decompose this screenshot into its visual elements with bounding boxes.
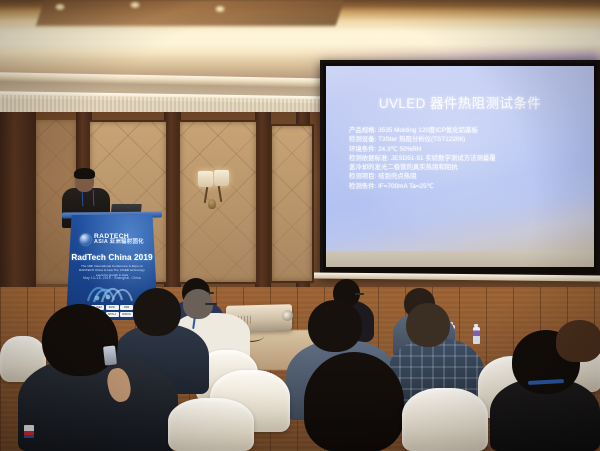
- audience-member-head: [308, 300, 362, 352]
- ceiling-spotlight: [215, 6, 225, 12]
- presenter-hair: [74, 168, 95, 179]
- audience-member-head: [304, 352, 404, 451]
- wall-stile: [164, 112, 181, 287]
- chair[interactable]: [168, 398, 254, 451]
- audience-member-head: [556, 320, 600, 362]
- swoosh-graphic: [86, 281, 142, 305]
- event-date: May 13–15, 2019 · Shanghai, China: [66, 276, 158, 280]
- fabric-wall-panel: [272, 126, 312, 281]
- sponsor-logo: MIWON: [120, 312, 133, 317]
- presenter-lanyard: [82, 190, 95, 206]
- logo-line-2: ASIA 亚洲辐射固化: [94, 240, 144, 245]
- ceiling-recess-panel: [36, 0, 344, 26]
- water-bottle[interactable]: [473, 327, 480, 344]
- radtech-logo: RADTECH ASIA 亚洲辐射固化: [80, 232, 146, 247]
- sunglasses: [205, 303, 217, 305]
- slide-body: 产品规格: 3535 Molding 120度ICP氮化铝基板 检测设备: T3…: [349, 126, 580, 191]
- ceiling-spotlight: [55, 4, 65, 10]
- event-title: RadTech China 2019: [66, 253, 158, 262]
- slide-line: 产品规格: 3535 Molding 120度ICP氮化铝基板: [349, 126, 580, 135]
- sponsor-logo: DSM: [120, 305, 133, 310]
- audience-member-head: [406, 303, 450, 347]
- slide-line: 检测条件: IF=700mA Ta=25℃: [349, 182, 580, 191]
- slide-line: 盖冷却的发光二极管的真实热阻和阻抗: [349, 163, 580, 172]
- bottle-cap: [474, 324, 478, 327]
- slide-title: UVLED 器件热阻测试条件: [326, 92, 594, 112]
- eyeglasses: [355, 293, 364, 295]
- globe-icon: [80, 234, 91, 245]
- sconce-shade-right: [214, 170, 229, 186]
- projection-screen[interactable]: UVLED 器件热阻测试条件 产品规格: 3535 Molding 120度IC…: [320, 60, 600, 276]
- slide-line: 环境条件: 24.3℃ 50%RH: [349, 145, 580, 154]
- conference-room-photo: UVLED 器件热阻测试条件 产品规格: 3535 Molding 120度IC…: [0, 0, 600, 451]
- sconce-shade-left: [198, 171, 213, 187]
- wall-stile: [255, 112, 271, 287]
- sconce-base: [208, 199, 216, 209]
- slide-line: 检测依据标准: JESD51-51 实验数学测试方法测量覆: [349, 154, 580, 163]
- chair[interactable]: [402, 388, 488, 451]
- screen-inactive-band: [326, 251, 594, 267]
- wall-stile: [0, 112, 36, 287]
- name-badge: [24, 425, 34, 438]
- slide-line: 检测项目: 结到壳点热阻: [349, 172, 580, 181]
- ceiling-spotlight: [130, 2, 140, 8]
- fabric-wall-panel: [180, 122, 256, 282]
- projection-screen-surface: UVLED 器件热阻测试条件 产品规格: 3535 Molding 120度IC…: [326, 66, 594, 251]
- audience-member-head: [133, 288, 181, 336]
- smartphone[interactable]: [103, 345, 117, 365]
- sponsor-logo: BASF: [106, 305, 119, 310]
- slide-line: 检测设备: T3Ster 热阻分析仪(TST12206): [349, 135, 580, 144]
